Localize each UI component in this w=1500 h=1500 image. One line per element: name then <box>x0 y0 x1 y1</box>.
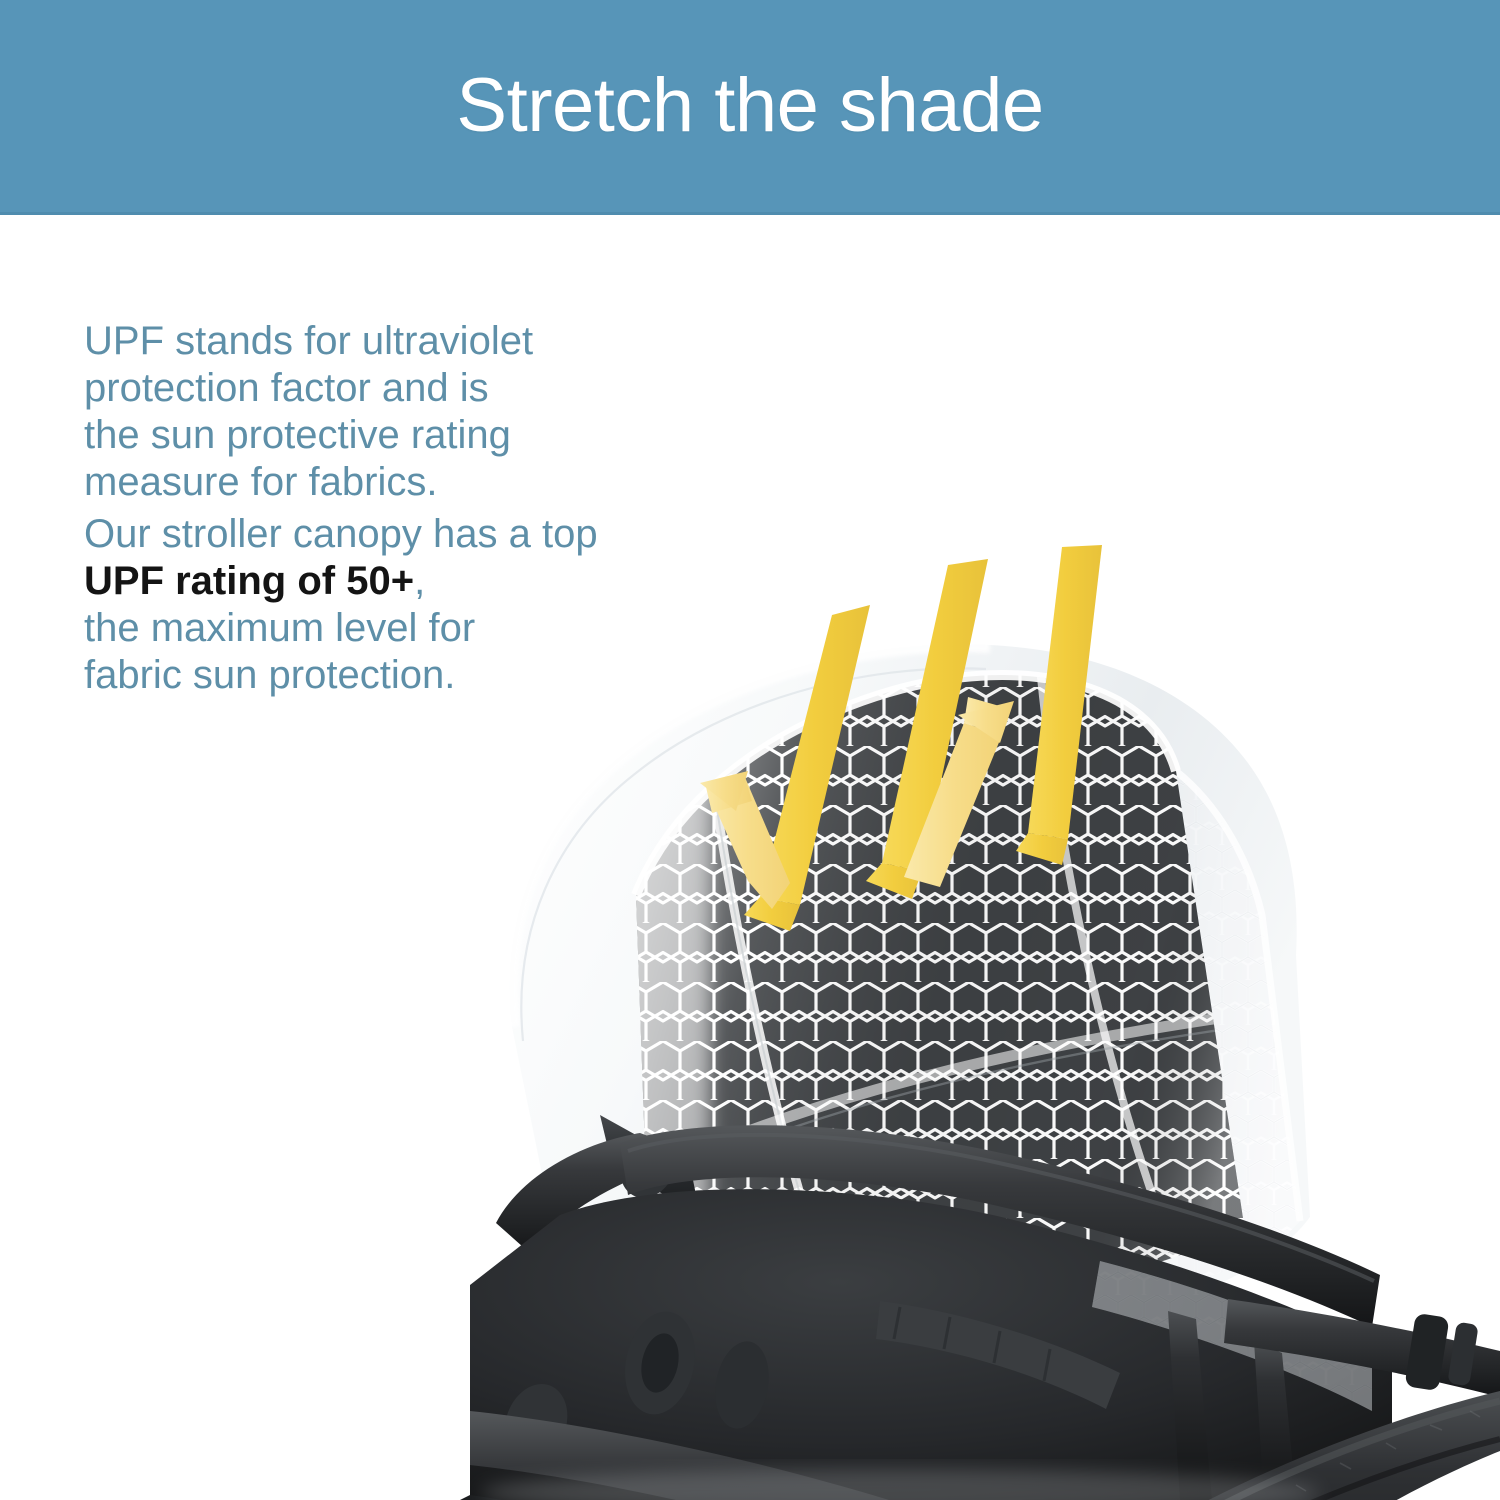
copy-line: the sun protective rating <box>84 412 664 459</box>
copy-line: protection factor and is <box>84 365 664 412</box>
copy-line: fabric sun protection. <box>84 652 664 699</box>
page-title: Stretch the shade <box>456 68 1043 144</box>
stroller-frame <box>418 1115 1500 1500</box>
copy-line: Our stroller canopy has a top <box>84 511 664 558</box>
upf-rating-value: UPF rating of 50+ <box>84 559 414 603</box>
header-banner: Stretch the shade <box>0 0 1500 215</box>
marketing-copy: UPF stands for ultraviolet protection fa… <box>84 318 664 699</box>
copy-line: measure for fabrics. <box>84 459 664 506</box>
upf-rating-emphasis: UPF rating of 50+, <box>84 558 664 605</box>
upf-rating-comma: , <box>414 559 425 603</box>
copy-line: the maximum level for <box>84 605 664 652</box>
copy-line: UPF stands for ultraviolet <box>84 318 664 365</box>
